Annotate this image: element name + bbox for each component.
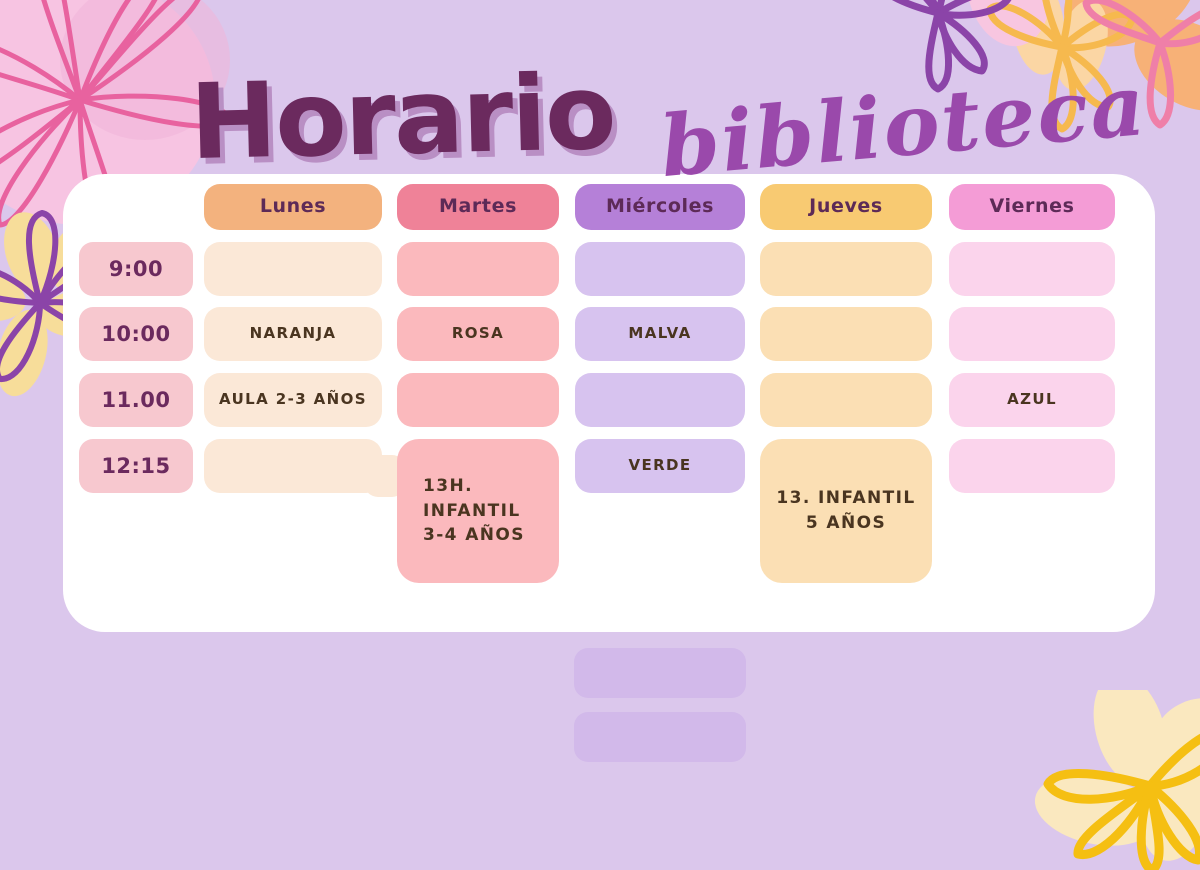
schedule-cell[interactable]: VERDE [575, 439, 745, 493]
placeholder-box-2 [574, 712, 746, 762]
schedule-cell[interactable] [949, 242, 1115, 296]
flower-cluster-topright-icon [830, 0, 1200, 195]
schedule-cell[interactable] [397, 242, 559, 296]
time-label-row-3: 11.00 [79, 373, 193, 427]
schedule-cell[interactable] [760, 242, 932, 296]
time-label-row-2: 10:00 [79, 307, 193, 361]
column-header-jueves: Jueves [760, 184, 932, 230]
flower-gold-bottomright-icon [1000, 690, 1200, 870]
schedule-cell[interactable] [397, 373, 559, 427]
schedule-cell[interactable] [204, 439, 382, 493]
schedule-cell[interactable]: AULA 2-3 AÑOS [204, 373, 382, 427]
schedule-cell[interactable] [949, 439, 1115, 493]
schedule-cell[interactable]: MALVA [575, 307, 745, 361]
column-header-viernes: Viernes [949, 184, 1115, 230]
time-label-row-1: 9:00 [79, 242, 193, 296]
title-main-text: Horario [189, 51, 616, 183]
schedule-cell[interactable]: NARANJA [204, 307, 382, 361]
page-title: Horario biblioteca [0, 24, 1200, 164]
time-label-row-4: 12:15 [79, 439, 193, 493]
schedule-cell[interactable]: 13H. INFANTIL 3-4 AÑOS [397, 439, 559, 583]
schedule-cell[interactable] [575, 373, 745, 427]
schedule-card: LunesMartesMiércolesJuevesViernes9:0010:… [63, 174, 1155, 632]
schedule-cell[interactable]: ROSA [397, 307, 559, 361]
schedule-cell[interactable] [949, 307, 1115, 361]
schedule-cell[interactable] [204, 242, 382, 296]
column-header-miercoles: Miércoles [575, 184, 745, 230]
schedule-cell[interactable] [760, 307, 932, 361]
schedule-cell[interactable]: 13. INFANTIL 5 AÑOS [760, 439, 932, 583]
column-header-martes: Martes [397, 184, 559, 230]
schedule-cell[interactable] [760, 373, 932, 427]
schedule-cell[interactable] [575, 242, 745, 296]
schedule-grid: LunesMartesMiércolesJuevesViernes9:0010:… [63, 174, 1155, 632]
placeholder-box-1 [574, 648, 746, 698]
column-header-lunes: Lunes [204, 184, 382, 230]
schedule-cell[interactable]: AZUL [949, 373, 1115, 427]
